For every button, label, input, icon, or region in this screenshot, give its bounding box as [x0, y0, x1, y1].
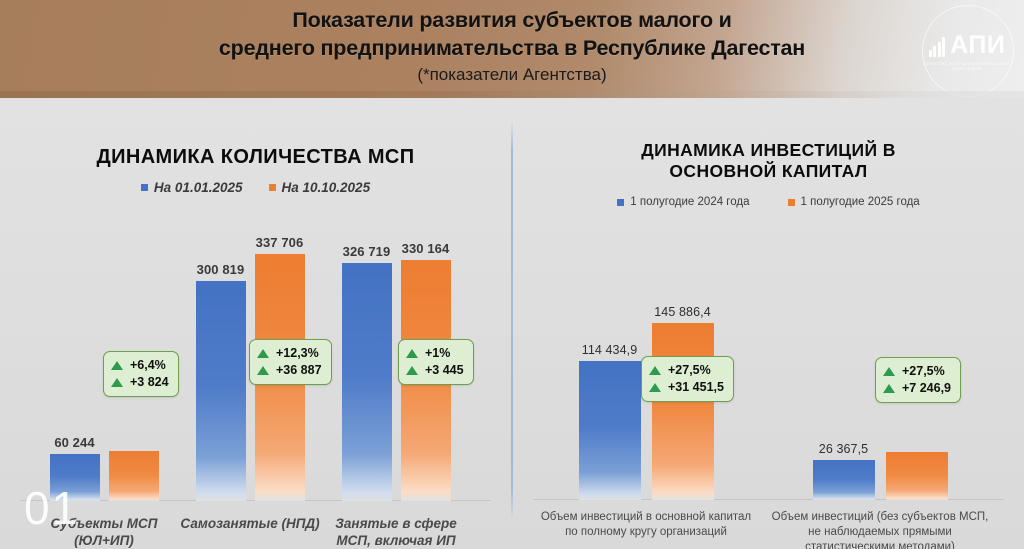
delta-percent: +27,5%	[668, 362, 711, 379]
bar-s2-g0[interactable]: 145 886,4	[652, 323, 714, 500]
delta-badge-1: +12,3% +36 887	[249, 339, 332, 385]
delta-absolute: +36 887	[276, 362, 322, 379]
logo-abbreviation: АПИ	[950, 33, 1005, 58]
page-title-line1: Показатели развития субъектов малого и	[292, 8, 731, 32]
legend-item-0[interactable]: На 01.01.2025	[141, 180, 243, 195]
delta-badge-0: +6,4% +3 824	[103, 351, 179, 397]
legend-item-1[interactable]: 1 полугодие 2025 года	[788, 196, 920, 208]
bar-s1-g2[interactable]: 326 719	[342, 263, 392, 501]
triangle-up-icon	[883, 367, 895, 376]
delta-percent: +27,5%	[902, 363, 945, 380]
chart-panel-investments: ДИНАМИКА ИНВЕСТИЦИЙ В ОСНОВНОЙ КАПИТАЛ 1…	[513, 110, 1024, 549]
delta-percent-row: +1%	[406, 345, 464, 362]
bar-fill	[196, 281, 246, 501]
delta-absolute: +3 824	[130, 374, 169, 391]
bar-fill	[886, 452, 948, 500]
delta-absolute-row: +36 887	[257, 362, 322, 379]
legend-swatch-icon	[269, 184, 276, 191]
delta-percent-row: +27,5%	[883, 363, 951, 380]
bar-fill	[109, 451, 159, 501]
triangle-up-icon	[883, 384, 895, 393]
triangle-up-icon	[406, 366, 418, 375]
bar-s1-g1[interactable]: 26 367,5	[813, 460, 875, 500]
triangle-up-icon	[649, 366, 661, 375]
bar-fill	[579, 361, 641, 500]
delta-badge-0: +27,5% +31 451,5	[641, 356, 734, 402]
legend-item-0[interactable]: 1 полугодие 2024 года	[617, 196, 749, 208]
page-title: Показатели развития субъектов малого и с…	[0, 6, 1024, 62]
logo-mark: АПИ	[926, 28, 1008, 58]
bar-s2-g1[interactable]	[886, 452, 948, 500]
bar-group-1: 26 367,5 Объем инвестиций (без субъектов…	[785, 452, 975, 500]
bar-s1-g0[interactable]: 114 434,9	[579, 361, 641, 500]
delta-percent: +1%	[425, 345, 450, 362]
legend-label: 1 полугодие 2025 года	[801, 196, 920, 208]
delta-percent: +6,4%	[130, 357, 166, 374]
legend-item-1[interactable]: На 10.10.2025	[269, 180, 371, 195]
bar-chart-icon	[929, 36, 946, 57]
slide: Показатели развития субъектов малого и с…	[0, 0, 1024, 549]
category-line: статистическими методами)	[805, 541, 955, 549]
chart-legend-investments: 1 полугодие 2024 года 1 полугодие 2025 г…	[513, 196, 1024, 208]
page-number: 01	[24, 485, 79, 531]
delta-absolute-row: +3 824	[111, 374, 169, 391]
category-line: (ЮЛ+ИП)	[74, 533, 134, 548]
bar-fill	[342, 263, 392, 501]
chart-title-line: ОСНОВНОЙ КАПИТАЛ	[669, 161, 867, 181]
legend-label: 1 полугодие 2024 года	[630, 196, 749, 208]
legend-label: На 10.10.2025	[282, 180, 371, 195]
chart-title-line: ДИНАМИКА ИНВЕСТИЦИЙ В	[641, 140, 896, 160]
page-subtitle: (*показатели Агентства)	[0, 65, 1024, 85]
triangle-up-icon	[406, 349, 418, 358]
delta-absolute-row: +3 445	[406, 362, 464, 379]
delta-absolute-row: +31 451,5	[649, 379, 724, 396]
bar-value-label: 60 244	[54, 435, 94, 450]
legend-swatch-icon	[141, 184, 148, 191]
category-line: Объем инвестиций в основной капитал	[541, 511, 751, 523]
category-label-2: Занятые в сфере МСП, включая ИП	[281, 515, 511, 549]
bar-value-label: 300 819	[197, 262, 245, 277]
agency-logo: АПИ АГЕНТСТВО ПО ПРЕДПРИНИМАТЕЛЬСТВУ И И…	[918, 2, 1014, 98]
triangle-up-icon	[111, 378, 123, 387]
logo-caption: АГЕНТСТВО ПО ПРЕДПРИНИМАТЕЛЬСТВУ И ИНВЕС…	[922, 62, 1012, 71]
plot-area-investments: 114 434,9 145 886,4 Объем инвестиций в о…	[513, 220, 1024, 500]
bar-value-label: 337 706	[256, 235, 304, 250]
page-title-line2: среднего предпринимательства в Республик…	[0, 34, 1024, 62]
delta-percent-row: +12,3%	[257, 345, 322, 362]
chart-legend-msp: На 01.01.2025 На 10.10.2025	[0, 180, 511, 195]
delta-absolute: +31 451,5	[668, 379, 724, 396]
triangle-up-icon	[649, 383, 661, 392]
delta-absolute: +7 246,9	[902, 380, 951, 397]
category-line: не наблюдаемых прямыми	[808, 526, 952, 538]
legend-label: На 01.01.2025	[154, 180, 243, 195]
delta-percent: +12,3%	[276, 345, 319, 362]
delta-badge-1: +27,5% +7 246,9	[875, 357, 961, 403]
bar-value-label: 145 886,4	[654, 305, 711, 319]
delta-absolute-row: +7 246,9	[883, 380, 951, 397]
triangle-up-icon	[257, 366, 269, 375]
bar-value-label: 26 367,5	[819, 442, 868, 456]
triangle-up-icon	[111, 361, 123, 370]
slide-header: Показатели развития субъектов малого и с…	[0, 0, 1024, 98]
category-line: Занятые в сфере	[335, 516, 457, 531]
delta-percent-row: +6,4%	[111, 357, 169, 374]
triangle-up-icon	[257, 349, 269, 358]
bar-s1-g1[interactable]: 300 819	[196, 281, 246, 501]
bar-value-label: 114 434,9	[582, 343, 638, 357]
legend-swatch-icon	[617, 199, 624, 206]
bar-fill	[652, 323, 714, 500]
chart-title-msp: ДИНАМИКА КОЛИЧЕСТВА МСП	[0, 145, 511, 169]
category-label-0: Объем инвестиций в основной капитал по п…	[521, 510, 771, 540]
category-line: по полному кругу организаций	[565, 526, 727, 538]
category-label-1: Объем инвестиций (без субъектов МСП, не …	[755, 510, 1005, 549]
delta-absolute: +3 445	[425, 362, 464, 379]
bar-value-label: 326 719	[343, 244, 391, 259]
delta-percent-row: +27,5%	[649, 362, 724, 379]
legend-swatch-icon	[788, 199, 795, 206]
category-line: Объем инвестиций (без субъектов МСП,	[772, 511, 989, 523]
plot-area-msp: 60 244 Субъекты МСП (ЮЛ+ИП) +6,4%	[0, 206, 511, 501]
bar-value-label: 330 164	[402, 241, 450, 256]
category-line: МСП, включая ИП	[336, 533, 455, 548]
chart-title-investments: ДИНАМИКА ИНВЕСТИЦИЙ В ОСНОВНОЙ КАПИТАЛ	[513, 140, 1024, 182]
bar-s2-g0[interactable]	[109, 451, 159, 501]
delta-badge-2: +1% +3 445	[398, 339, 474, 385]
bar-fill	[813, 460, 875, 500]
bar-group-0: 114 434,9 145 886,4 Объем инвестиций в о…	[551, 323, 741, 500]
